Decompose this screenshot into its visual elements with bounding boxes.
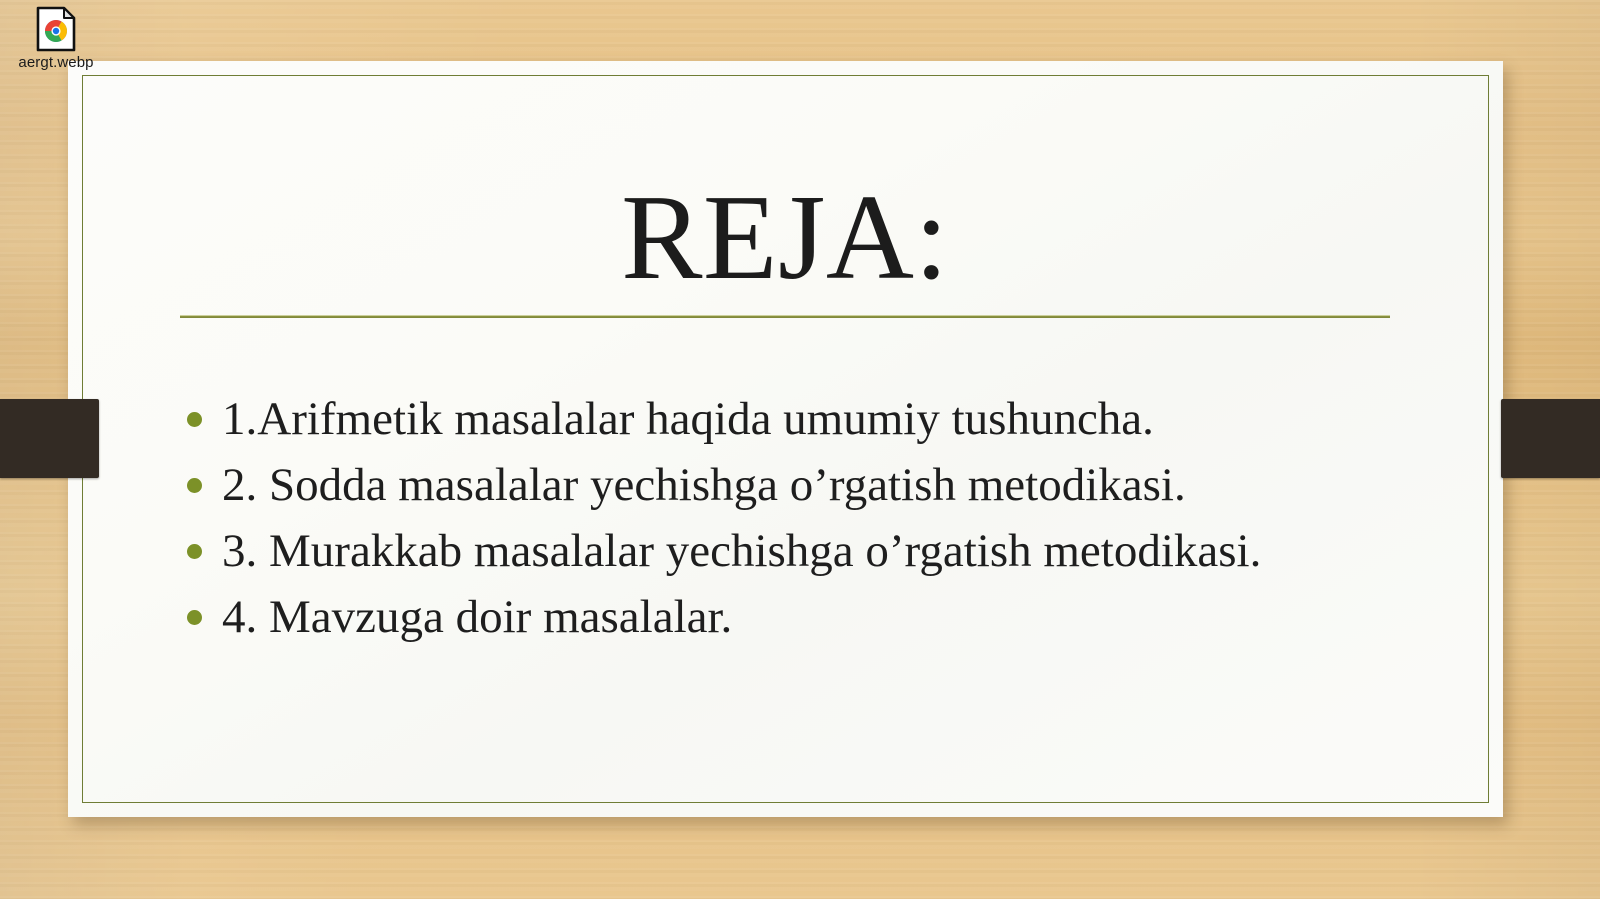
list-item-text: 2. Sodda masalalar yechishga o’rgatish m… <box>222 457 1470 513</box>
bullet-marker-icon <box>187 610 202 625</box>
list-item-text: 3. Murakkab masalalar yechishga o’rgatis… <box>222 523 1470 579</box>
list-item: 4. Mavzuga doir masalalar. <box>180 589 1470 645</box>
webp-file-chrome-icon <box>36 6 76 52</box>
desktop-file-icon-aergt[interactable]: aergt.webp <box>6 6 106 72</box>
slide-content: REJA: 1.Arifmetik masalalar haqida umumi… <box>68 61 1503 817</box>
page-title: REJA: <box>180 179 1390 297</box>
list-item: 3. Murakkab masalalar yechishga o’rgatis… <box>180 523 1470 579</box>
right-accent-bar <box>1501 399 1600 478</box>
bullet-marker-icon <box>187 544 202 559</box>
list-item: 2. Sodda masalalar yechishga o’rgatish m… <box>180 457 1470 513</box>
desktop-file-icon-label: aergt.webp <box>6 54 106 72</box>
list-item: 1.Arifmetik masalalar haqida umumiy tush… <box>180 391 1470 447</box>
list-item-text: 1.Arifmetik masalalar haqida umumiy tush… <box>222 391 1470 447</box>
title-divider <box>180 315 1390 318</box>
slide-bullet-list: 1.Arifmetik masalalar haqida umumiy tush… <box>180 391 1470 655</box>
bullet-marker-icon <box>187 478 202 493</box>
slide-title-block: REJA: <box>180 179 1390 318</box>
left-accent-bar <box>0 399 99 478</box>
bullet-marker-icon <box>187 412 202 427</box>
list-item-text: 4. Mavzuga doir masalalar. <box>222 589 1470 645</box>
presentation-slide: REJA: 1.Arifmetik masalalar haqida umumi… <box>68 61 1503 817</box>
